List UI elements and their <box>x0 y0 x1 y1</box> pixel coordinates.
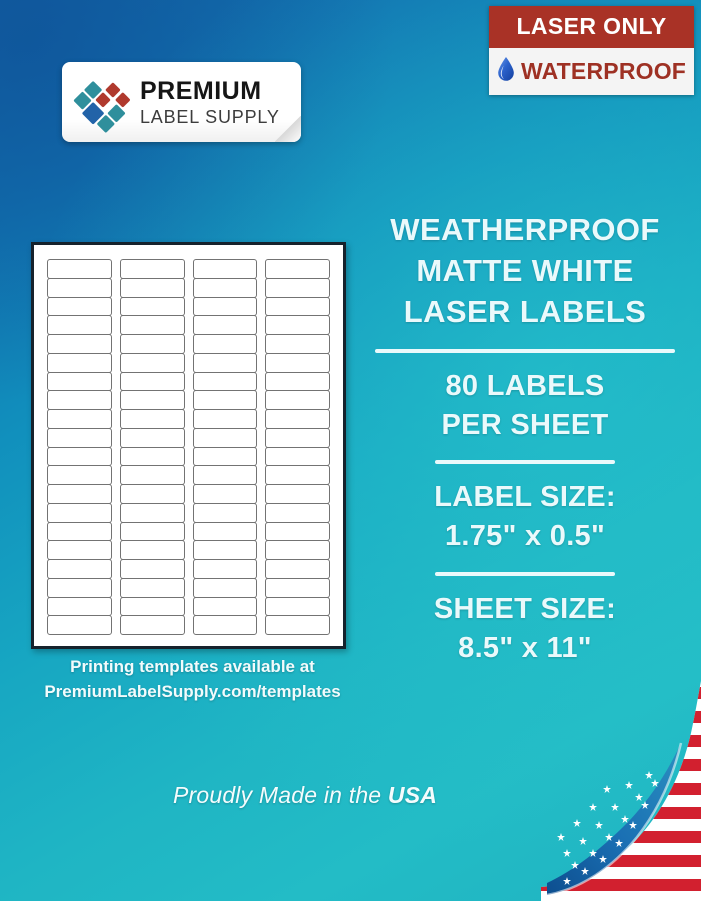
label-cell <box>120 428 185 448</box>
label-cell <box>47 353 112 373</box>
spec-column: WEATHERPROOF MATTE WHITE LASER LABELS 80… <box>360 210 690 668</box>
label-cell <box>47 503 112 523</box>
label-cell <box>47 447 112 467</box>
label-cell <box>47 259 112 279</box>
label-cell <box>193 372 258 392</box>
label-cell <box>265 615 330 635</box>
label-cell <box>193 540 258 560</box>
label-cell <box>193 597 258 617</box>
label-cell <box>120 578 185 598</box>
label-cell <box>47 372 112 392</box>
label-cell <box>120 390 185 410</box>
made-in-usa-text: Proudly Made in the USA <box>90 782 520 809</box>
label-column <box>265 259 330 634</box>
label-cell <box>120 597 185 617</box>
label-cell <box>265 428 330 448</box>
label-cell <box>265 409 330 429</box>
label-cell <box>47 390 112 410</box>
label-cell <box>265 315 330 335</box>
label-cell <box>265 503 330 523</box>
product-image: LASER ONLY WATERPROOF <box>0 0 701 901</box>
label-cell <box>47 278 112 298</box>
sheet-size-spec: SHEET SIZE: 8.5" x 11" <box>360 590 690 668</box>
label-cell <box>120 447 185 467</box>
label-cell <box>120 334 185 354</box>
label-cell <box>120 315 185 335</box>
label-cell <box>193 409 258 429</box>
label-cell <box>47 409 112 429</box>
label-cell <box>265 559 330 579</box>
label-cell <box>265 447 330 467</box>
label-cell <box>47 428 112 448</box>
label-cell <box>265 278 330 298</box>
product-headline: WEATHERPROOF MATTE WHITE LASER LABELS <box>360 210 690 333</box>
label-cell <box>193 522 258 542</box>
label-column <box>193 259 258 634</box>
label-cell <box>47 540 112 560</box>
label-cell <box>47 484 112 504</box>
templates-note: Printing templates available at PremiumL… <box>20 655 365 704</box>
label-cell <box>193 559 258 579</box>
label-cell <box>120 522 185 542</box>
label-cell <box>265 484 330 504</box>
label-cell <box>47 297 112 317</box>
label-cell <box>265 465 330 485</box>
label-cell <box>265 522 330 542</box>
label-cell <box>265 353 330 373</box>
label-cell <box>120 484 185 504</box>
label-cell <box>193 447 258 467</box>
water-droplet-icon <box>497 56 515 86</box>
label-cell <box>47 334 112 354</box>
label-cell <box>120 615 185 635</box>
divider-2 <box>435 460 615 464</box>
templates-note-line-1: Printing templates available at <box>20 655 365 680</box>
label-column <box>120 259 185 634</box>
label-sheet-preview <box>31 242 346 649</box>
sheet-size-caption: SHEET SIZE: <box>360 590 690 629</box>
label-cell <box>47 559 112 579</box>
label-cell <box>120 259 185 279</box>
brand-name-secondary: LABEL SUPPLY <box>140 108 280 126</box>
labels-per-sheet-line-2: PER SHEET <box>360 406 690 445</box>
premium-diamond-logo-icon <box>72 71 134 133</box>
headline-line-3: LASER LABELS <box>360 292 690 333</box>
made-in-usa-prefix: Proudly Made in the <box>173 782 388 808</box>
label-size-value: 1.75" x 0.5" <box>360 517 690 556</box>
label-cell <box>193 297 258 317</box>
label-cell <box>193 278 258 298</box>
label-cell <box>47 315 112 335</box>
label-size-caption: LABEL SIZE: <box>360 478 690 517</box>
label-cell <box>265 578 330 598</box>
label-cell <box>47 615 112 635</box>
label-cell <box>193 578 258 598</box>
laser-only-badge: LASER ONLY <box>489 6 694 48</box>
label-cell <box>47 597 112 617</box>
label-cell <box>193 353 258 373</box>
headline-line-1: WEATHERPROOF <box>360 210 690 251</box>
label-cell <box>265 334 330 354</box>
label-cell <box>193 390 258 410</box>
label-cell <box>120 540 185 560</box>
label-cell <box>193 428 258 448</box>
labels-per-sheet-line-1: 80 LABELS <box>360 367 690 406</box>
sheet-size-value: 8.5" x 11" <box>360 629 690 668</box>
label-cell <box>193 334 258 354</box>
label-cell <box>265 372 330 392</box>
logo-card-peel-corner <box>275 116 301 142</box>
brand-logo-card: PREMIUM LABEL SUPPLY <box>62 62 301 142</box>
made-in-usa-emphasis: USA <box>388 782 437 808</box>
label-grid <box>47 259 330 634</box>
label-cell <box>193 615 258 635</box>
label-cell <box>193 315 258 335</box>
label-cell <box>120 372 185 392</box>
labels-per-sheet: 80 LABELS PER SHEET <box>360 367 690 445</box>
label-cell <box>120 559 185 579</box>
label-cell <box>265 259 330 279</box>
label-cell <box>265 540 330 560</box>
divider-3 <box>435 572 615 576</box>
label-cell <box>47 465 112 485</box>
label-cell <box>120 465 185 485</box>
label-cell <box>193 259 258 279</box>
divider-1 <box>375 349 675 353</box>
label-cell <box>193 503 258 523</box>
label-cell <box>47 522 112 542</box>
label-cell <box>120 409 185 429</box>
waterproof-badge-label: WATERPROOF <box>521 60 686 83</box>
templates-note-line-2: PremiumLabelSupply.com/templates <box>20 680 365 705</box>
label-cell <box>120 503 185 523</box>
usa-flag-page-curl <box>541 681 701 901</box>
headline-line-2: MATTE WHITE <box>360 251 690 292</box>
label-column <box>47 259 112 634</box>
label-cell <box>47 578 112 598</box>
label-cell <box>120 353 185 373</box>
label-cell <box>265 297 330 317</box>
label-cell <box>120 278 185 298</box>
label-cell <box>193 484 258 504</box>
label-size-spec: LABEL SIZE: 1.75" x 0.5" <box>360 478 690 556</box>
label-cell <box>265 390 330 410</box>
brand-wordmark: PREMIUM LABEL SUPPLY <box>140 79 280 126</box>
label-cell <box>120 297 185 317</box>
label-cell <box>193 465 258 485</box>
waterproof-badge: WATERPROOF <box>489 48 694 95</box>
label-cell <box>265 597 330 617</box>
brand-name-primary: PREMIUM <box>140 79 280 104</box>
badge-stack: LASER ONLY WATERPROOF <box>489 6 694 95</box>
